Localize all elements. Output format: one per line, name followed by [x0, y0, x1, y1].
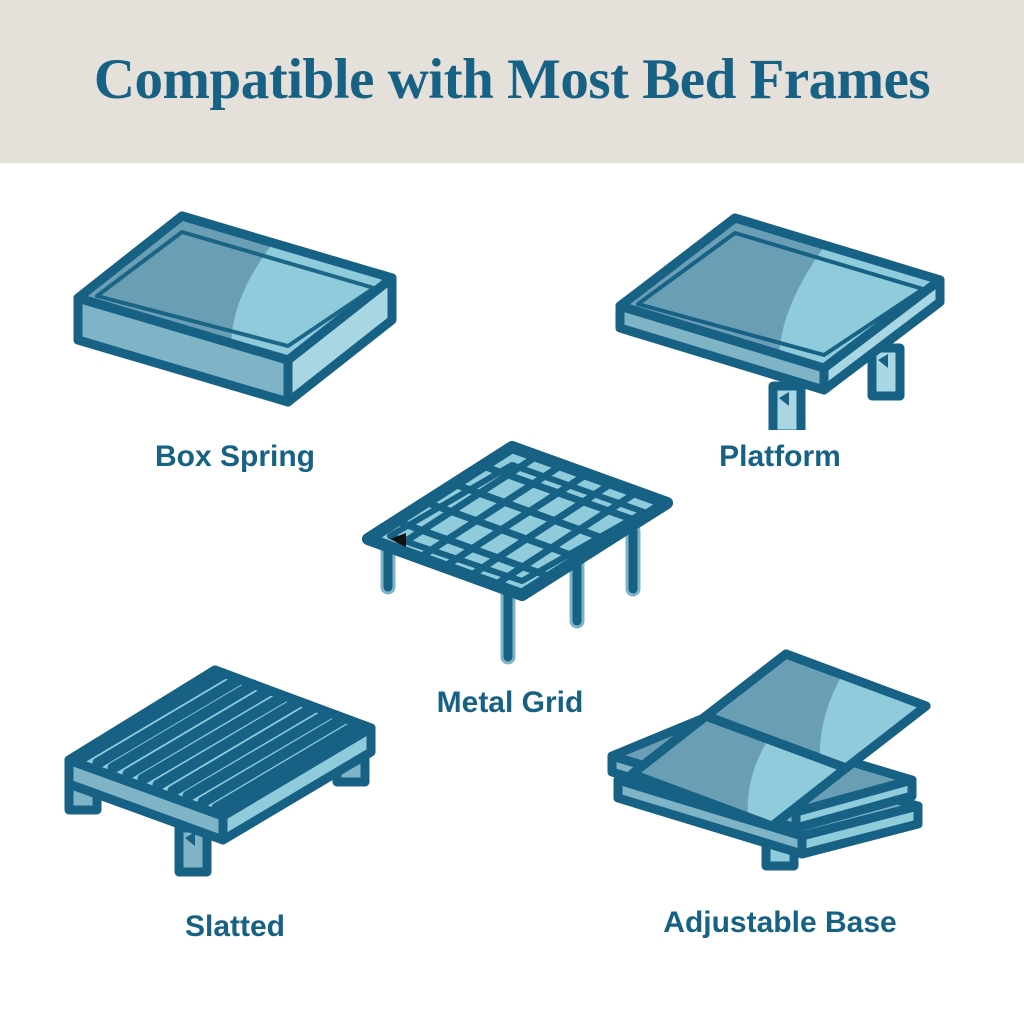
item-adjustable-base: Adjustable Base	[600, 640, 960, 938]
infographic-canvas: Compatible with Most Bed Frames B	[0, 0, 1024, 1024]
item-slatted: Slatted	[55, 660, 415, 942]
slatted-base-isometric-icon	[55, 660, 415, 890]
page-title: Compatible with Most Bed Frames	[94, 51, 930, 108]
label-slatted: Slatted	[55, 912, 415, 942]
label-adjustable-base: Adjustable Base	[600, 908, 960, 938]
header-band: Compatible with Most Bed Frames	[0, 0, 1024, 163]
platform-bed-isometric-icon	[600, 200, 960, 430]
item-box-spring: Box Spring	[55, 200, 415, 472]
box-spring-isometric-icon	[55, 200, 415, 430]
adjustable-base-isometric-icon	[600, 640, 960, 890]
item-platform: Platform	[600, 200, 960, 472]
